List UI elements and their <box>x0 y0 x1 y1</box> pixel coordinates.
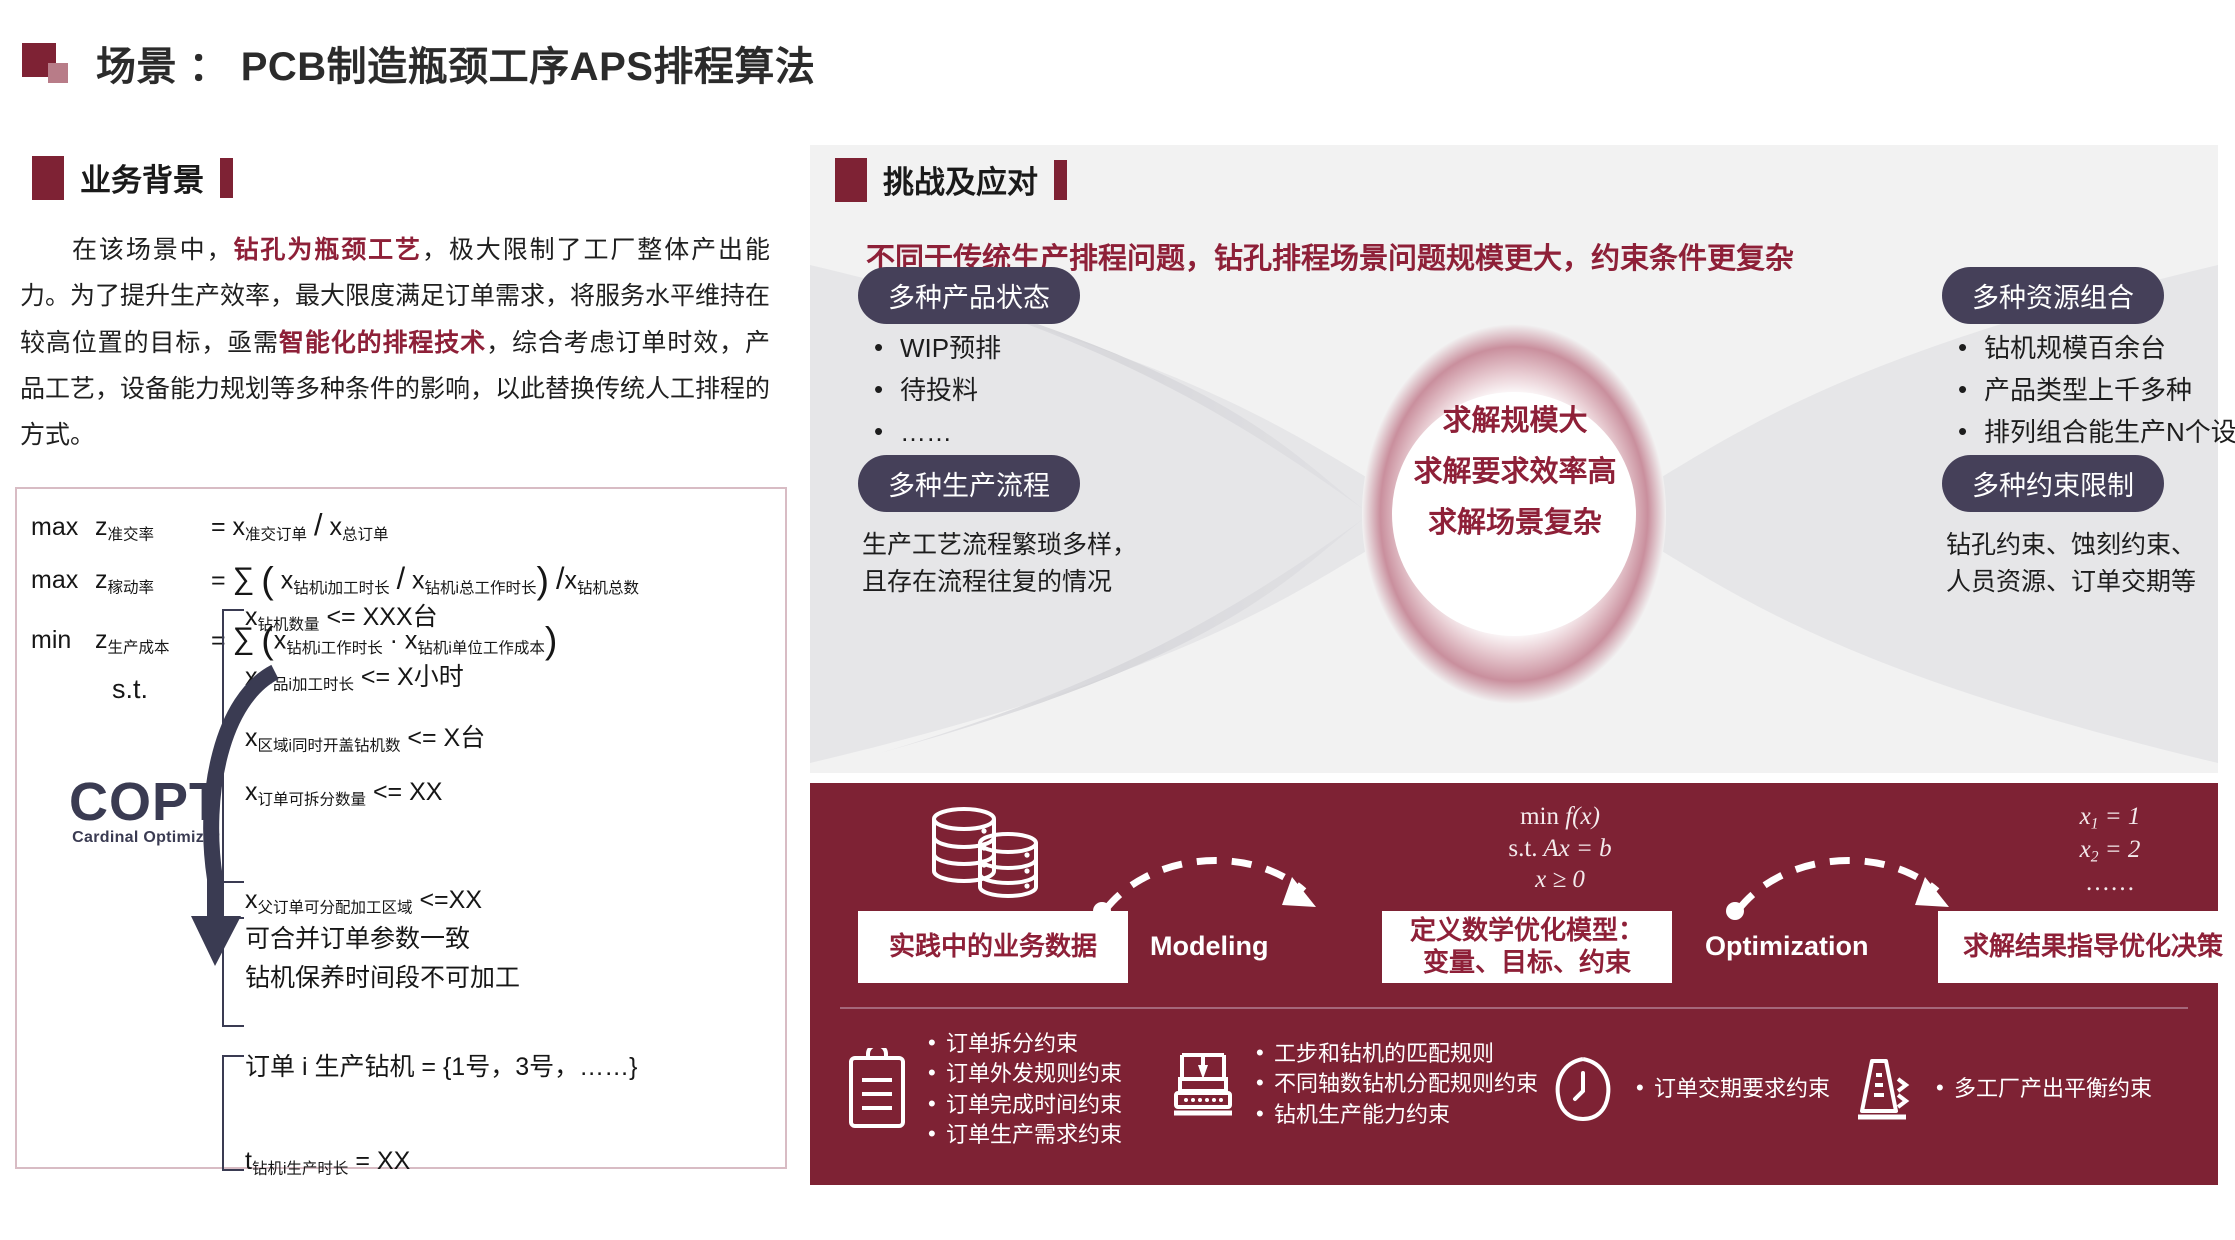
constraint-icons-row: 订单拆分约束 订单外发规则约束 订单完成时间约束 订单生产需求约束 <box>810 1015 2218 1185</box>
subject-to-label: s.t. <box>112 674 148 705</box>
drill-machine-icon <box>1170 1049 1236 1121</box>
list-item: 钻机生产能力约束 <box>1250 1100 1538 1130</box>
pill-product-states[interactable]: 多种产品状态 <box>858 267 1080 324</box>
right-note-line-2: 人员资源、订单交期等 <box>1946 564 2196 601</box>
flow-step-modeling: Modeling <box>1150 931 1268 962</box>
copt-logo-tagline: Cardinal Optimizer <box>69 829 223 847</box>
dashed-arrow-icon <box>1092 831 1332 921</box>
list-item: 订单生产需求约束 <box>922 1120 1122 1150</box>
database-icon <box>922 801 1052 901</box>
constraint-brace-lower <box>222 1055 244 1171</box>
factory-label: 多工厂产出平衡约束 <box>1930 1074 2152 1104</box>
constraint-group-machine: 工步和钻机的匹配规则 不同轴数钻机分配规则约束 钻机生产能力约束 <box>1170 1039 1538 1130</box>
list-item: …… <box>866 411 1001 453</box>
business-background-paragraph: 在该场景中，钻孔为瓶颈工艺，极大限制了工厂整体产出能力。为了提升生产效率，最大限… <box>20 227 770 458</box>
challenge-heading: 挑战及应对 <box>835 157 1067 202</box>
list-item: 工步和钻机的匹配规则 <box>1250 1039 1538 1069</box>
center-line-1: 求解规模大 <box>1370 407 1660 436</box>
business-background-title: 业务背景 <box>80 155 204 200</box>
list-item: WIP预排 <box>866 327 1001 369</box>
constraint-group-order: 订单拆分约束 订单外发规则约束 订单完成时间约束 订单生产需求约束 <box>846 1029 1122 1150</box>
list-item: 订单外发规则约束 <box>922 1059 1122 1089</box>
obj1-operator: max <box>31 507 95 547</box>
flow-box-business-data[interactable]: 实践中的业务数据 <box>858 911 1128 983</box>
title-marker-icon <box>22 37 74 89</box>
para-highlight-2: 智能化的排程技术 <box>279 329 486 357</box>
modeling-flow-panel: min f(x) s.t. Ax = b x ≥ 0 x1 = 1 x2 = 2… <box>810 783 2218 1185</box>
business-background-heading: 业务背景 <box>32 155 233 200</box>
clipboard-icon <box>846 1048 908 1132</box>
solution-line-3: …… <box>1990 867 2230 899</box>
left-note-line-1: 生产工艺流程繁琐多样， <box>862 527 1137 564</box>
right-note: 钻孔约束、蚀刻约束、 人员资源、订单交期等 <box>1946 527 2196 601</box>
flow-box-define-model[interactable]: 定义数学优化模型： 变量、目标、约束 <box>1382 911 1672 983</box>
left-bullet-list: WIP预排 待投料 …… <box>866 327 1001 453</box>
list-item: 钻机规模百余台 <box>1950 327 2235 369</box>
flow-box2-line1: 定义数学优化模型： <box>1410 915 1644 947</box>
marker-square-secondary <box>48 63 68 83</box>
math-line-1: min f(x) <box>1420 801 1700 833</box>
list-item: 订单拆分约束 <box>922 1029 1122 1059</box>
constraint-item: x钻机数量 <= XXX台 <box>245 597 485 634</box>
flow-step-optimization: Optimization <box>1705 931 1869 962</box>
hourglass-diagram: 求解规模大 求解要求效率高 求解场景复杂 多种产品状态 WIP预排 待投料 ……… <box>810 255 2218 773</box>
para-highlight-1: 钻孔为瓶颈工艺 <box>234 236 422 264</box>
list-item: 排列组合能生产N个设备组合 <box>1950 411 2235 453</box>
copt-logo-name: COPT <box>69 771 223 833</box>
solution-note: x1 = 1 x2 = 2 …… <box>1990 801 2230 898</box>
left-note: 生产工艺流程繁琐多样， 且存在流程往复的情况 <box>862 527 1137 601</box>
right-bullet-list: 钻机规模百余台 产品类型上千多种 排列组合能生产N个设备组合 <box>1950 327 2235 453</box>
spacer <box>245 1083 637 1147</box>
list-item: 待投料 <box>866 369 1001 411</box>
constraint-list-final: 订单 i 生产钻机 = {1号，3号，……} t钻机i生产时长 = XX <box>245 1047 637 1178</box>
clock-icon <box>1550 1053 1616 1125</box>
para-part-1: 在该场景中， <box>72 236 234 264</box>
math-line-3: x ≥ 0 <box>1420 864 1700 896</box>
slide-header: 场景 ： PCB制造瓶颈工序APS排程算法 <box>0 28 815 98</box>
left-note-line-2: 且存在流程往复的情况 <box>862 564 1137 601</box>
obj2-operator: max <box>31 560 95 600</box>
center-line-3: 求解场景复杂 <box>1370 509 1660 538</box>
dashed-arrow-icon <box>1725 831 1965 921</box>
business-background-panel: 业务背景 在该场景中，钻孔为瓶颈工艺，极大限制了工厂整体产出能力。为了提升生产效… <box>0 145 800 1185</box>
heading-block-left-icon <box>32 156 64 200</box>
pill-resource-combos[interactable]: 多种资源组合 <box>1942 267 2164 324</box>
obj1-variable: z准交率 <box>95 507 211 548</box>
flow-steps-row: min f(x) s.t. Ax = b x ≥ 0 x1 = 1 x2 = 2… <box>810 783 2218 1005</box>
flow-box-result-decision[interactable]: 求解结果指导优化决策 <box>1938 911 2235 983</box>
challenge-title: 挑战及应对 <box>883 157 1038 202</box>
pill-constraint-limits[interactable]: 多种约束限制 <box>1942 455 2164 512</box>
duedate-label: 订单交期要求约束 <box>1630 1074 1830 1104</box>
factory-icon <box>1850 1053 1916 1125</box>
center-circle-text: 求解规模大 求解要求效率高 求解场景复杂 <box>1370 407 1660 538</box>
math-model-note: min f(x) s.t. Ax = b x ≥ 0 <box>1420 801 1700 896</box>
page-title: 场景 ： PCB制造瓶颈工序APS排程算法 <box>96 34 815 92</box>
list-item: 订单交期要求约束 <box>1630 1074 1830 1104</box>
center-line-2: 求解要求效率高 <box>1370 458 1660 487</box>
constraint-group-factory: 多工厂产出平衡约束 <box>1850 1053 2152 1125</box>
right-note-line-1: 钻孔约束、蚀刻约束、 <box>1946 527 2196 564</box>
list-item: 订单完成时间约束 <box>922 1090 1122 1120</box>
list-item: 多工厂产出平衡约束 <box>1930 1074 2152 1104</box>
obj3-operator: min <box>31 620 95 660</box>
challenge-panel: 挑战及应对 不同于传统生产排程问题，钻孔排程场景问题规模更大，约束条件更复杂 <box>810 145 2218 773</box>
obj2-variable: z稼动率 <box>95 560 211 601</box>
list-item: 产品类型上千多种 <box>1950 369 2235 411</box>
flow-box2-line2: 变量、目标、约束 <box>1423 947 1631 979</box>
order-constraint-list: 订单拆分约束 订单外发规则约束 订单完成时间约束 订单生产需求约束 <box>922 1029 1122 1150</box>
copt-logo: COPT Cardinal Optimizer <box>69 771 223 847</box>
machine-constraint-list: 工步和钻机的匹配规则 不同轴数钻机分配规则约束 钻机生产能力约束 <box>1250 1039 1538 1130</box>
solution-line-1: x1 = 1 <box>1990 801 2230 834</box>
constraint-item: t钻机i生产时长 = XX <box>245 1147 637 1178</box>
solution-line-2: x2 = 2 <box>1990 834 2230 867</box>
math-line-2: s.t. Ax = b <box>1420 833 1700 865</box>
heading-bar-right-icon <box>1054 160 1067 200</box>
heading-bar-right-icon <box>220 158 233 198</box>
obj3-variable: z生产成本 <box>95 620 211 661</box>
list-item: 不同轴数钻机分配规则约束 <box>1250 1069 1538 1099</box>
constraint-item: 订单 i 生产钻机 = {1号，3号，……} <box>245 1047 637 1083</box>
objective-row-1: max z准交率 = x准交订单 / x总订单 <box>31 501 639 550</box>
constraint-group-duedate: 订单交期要求约束 <box>1550 1053 1830 1125</box>
pill-production-flows[interactable]: 多种生产流程 <box>858 455 1080 512</box>
optimization-model-box: max z准交率 = x准交订单 / x总订单 max z稼动率 = ∑ ( x… <box>15 487 787 1169</box>
obj1-expression: = x准交订单 / x总订单 <box>211 501 388 550</box>
flow-divider <box>840 1007 2188 1009</box>
heading-block-left-icon <box>835 158 867 202</box>
